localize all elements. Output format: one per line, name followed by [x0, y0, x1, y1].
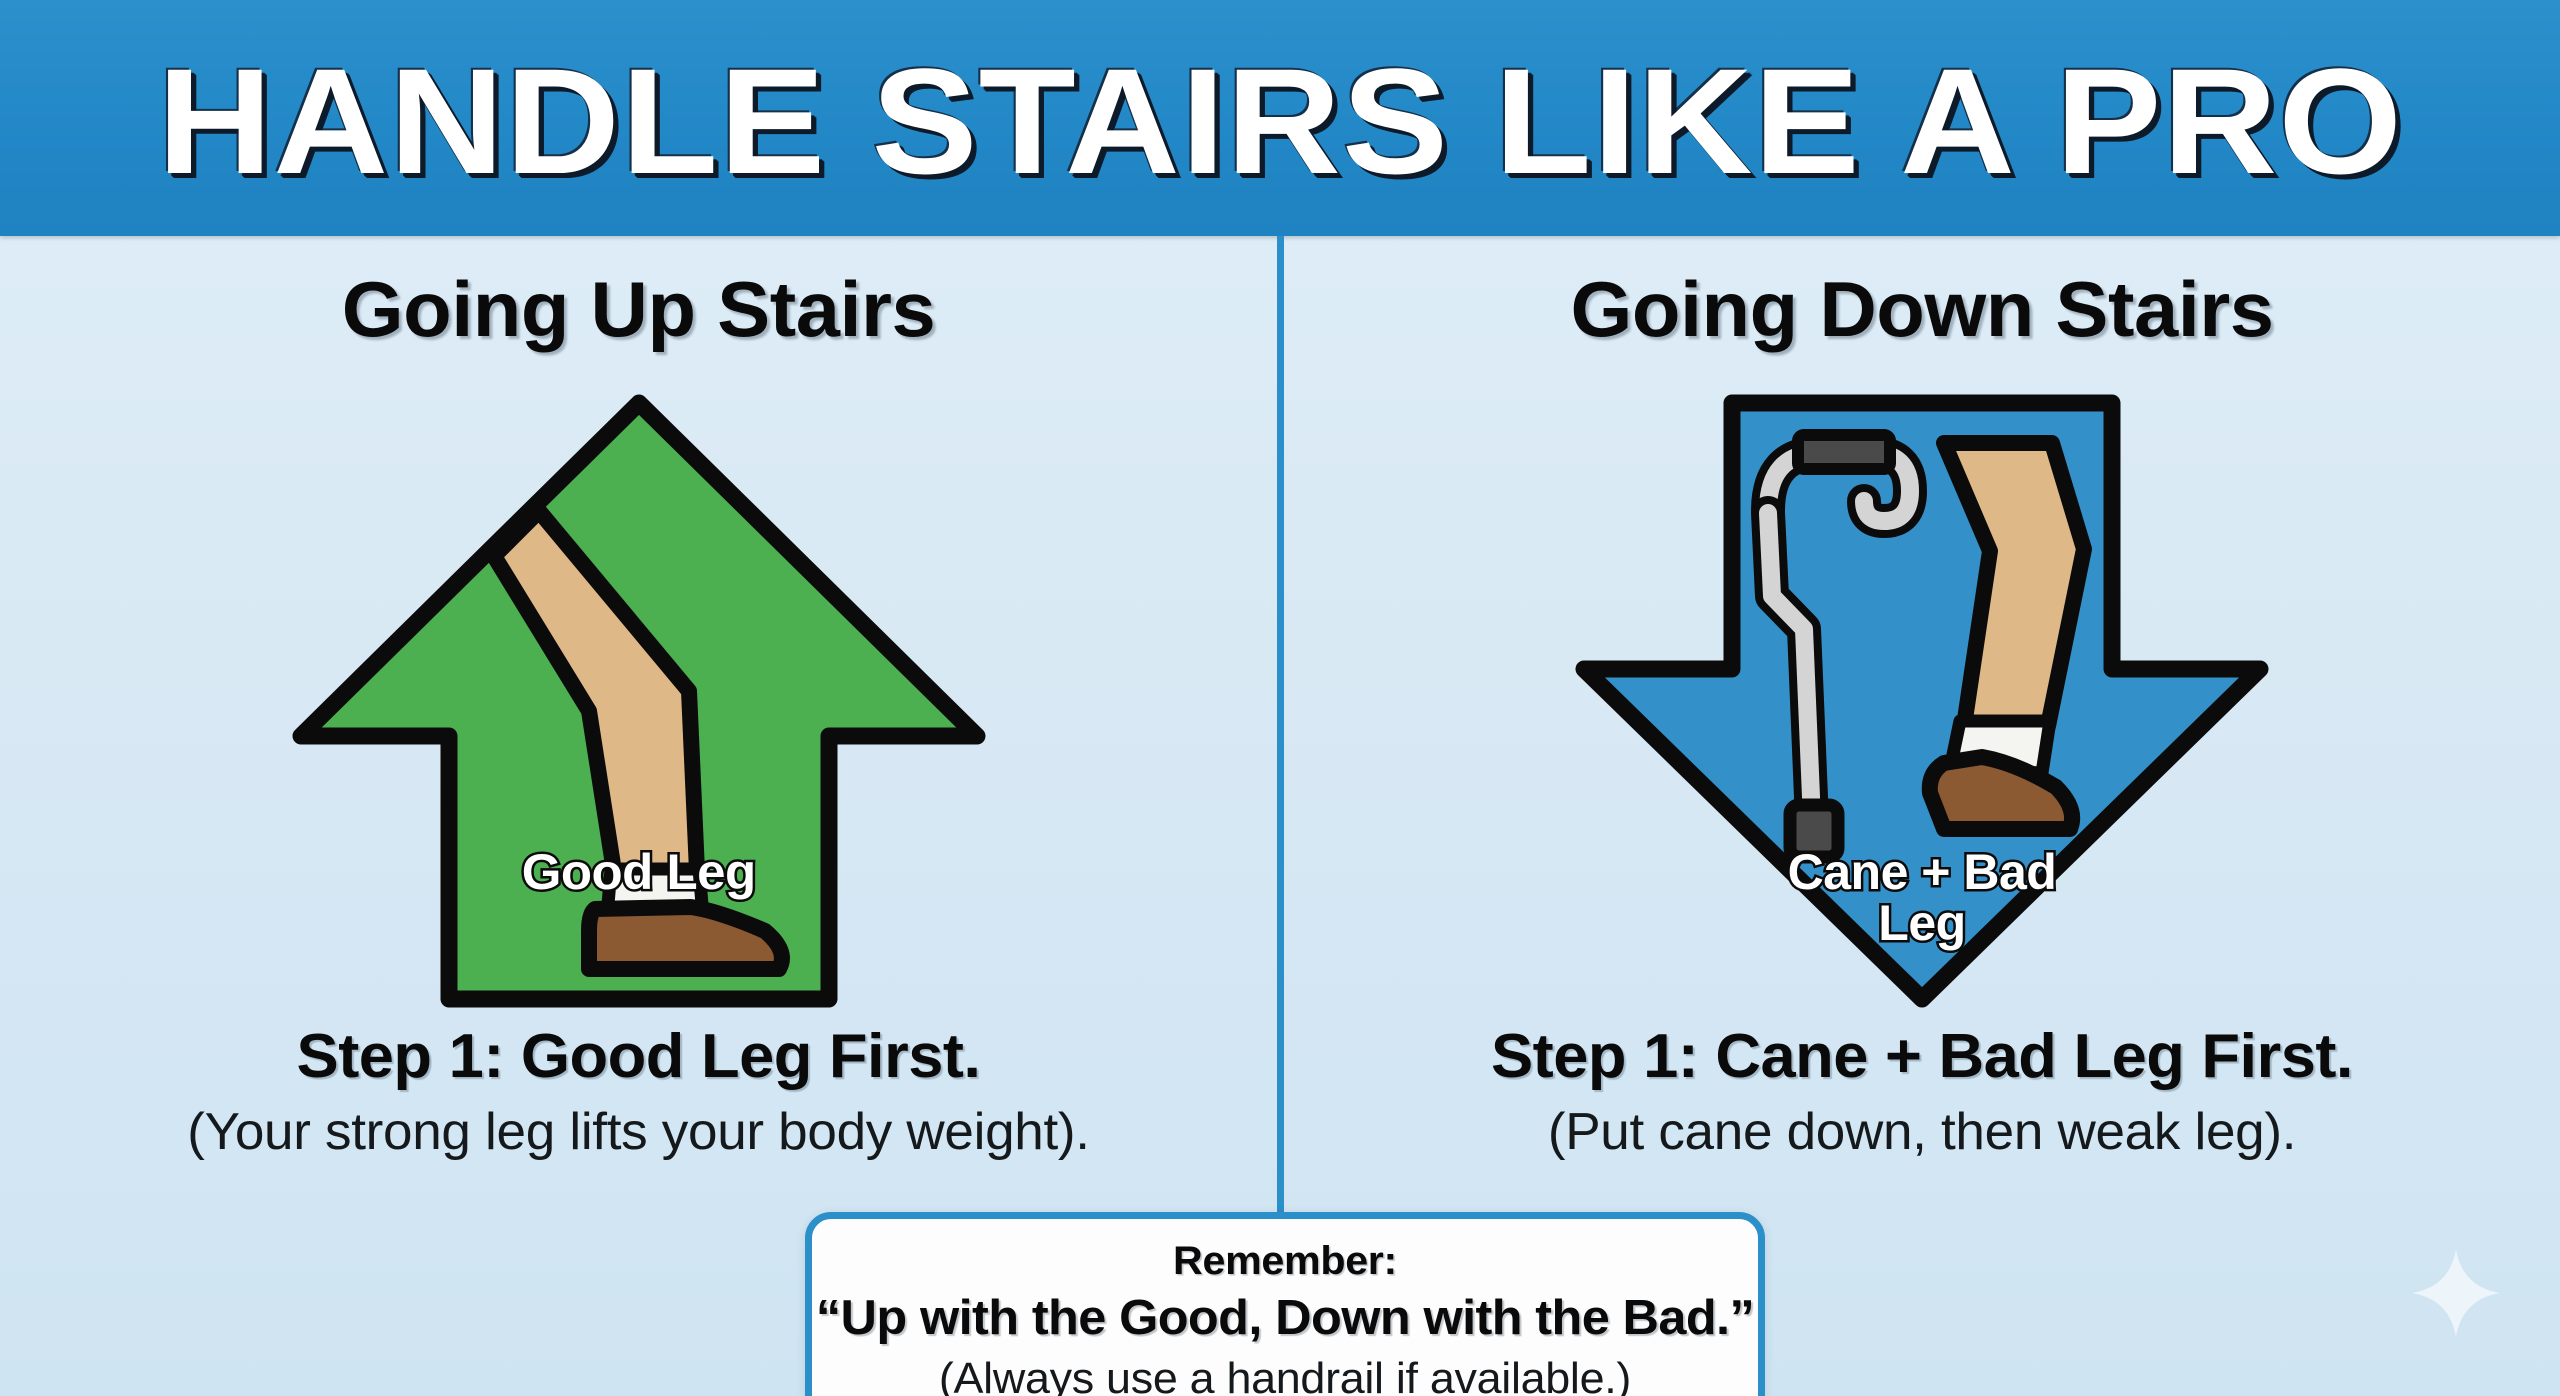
arrow-label-cane-bad-leg: Cane + Bad Leg [1284, 847, 2560, 949]
panel-title-going-down: Going Down Stairs [1271, 264, 2560, 355]
caption-going-down: Step 1: Cane + Bad Leg First. (Put cane … [1284, 1021, 2560, 1162]
caption-sub-going-up: (Your strong leg lifts your body weight)… [0, 1102, 1290, 1162]
green-up-arrow-icon [289, 391, 989, 1011]
remember-note: (Always use a handrail if available.) [803, 1354, 1768, 1396]
page-title: HANDLE STAIRS LIKE A PRO [157, 46, 2403, 196]
caption-main-going-down: Step 1: Cane + Bad Leg First. [1271, 1021, 2560, 1092]
arrow-down-illustration: Cane + Bad Leg [1284, 391, 2560, 1011]
caption-going-up: Step 1: Good Leg First. (Your strong leg… [0, 1021, 1277, 1162]
infographic-poster: HANDLE STAIRS LIKE A PRO Going Up Stairs [0, 0, 2560, 1396]
header-band: HANDLE STAIRS LIKE A PRO [0, 0, 2560, 236]
remember-card: Remember: “Up with the Good, Down with t… [805, 1212, 1765, 1396]
remember-label: Remember: [798, 1239, 1772, 1284]
arrow-up-illustration: Good Leg [0, 391, 1277, 1011]
panel-title-going-up: Going Up Stairs [0, 264, 1290, 355]
arrow-label-line2: Leg [1878, 898, 1965, 949]
sparkle-icon [2408, 1243, 2504, 1343]
panel-going-down: Going Down Stairs [1284, 236, 2560, 1236]
panel-going-up: Going Up Stairs Good Leg Step 1: Good L [0, 236, 1277, 1236]
remember-quote: “Up with the Good, Down with the Bad.” [798, 1290, 1772, 1346]
arrow-label-good-leg: Good Leg [0, 843, 1277, 901]
caption-main-going-up: Step 1: Good Leg First. [0, 1021, 1290, 1092]
caption-sub-going-down: (Put cane down, then weak leg). [1271, 1102, 2560, 1162]
arrow-label-line1: Cane + Bad [1788, 847, 2057, 898]
cane-grip-icon [1798, 435, 1890, 469]
